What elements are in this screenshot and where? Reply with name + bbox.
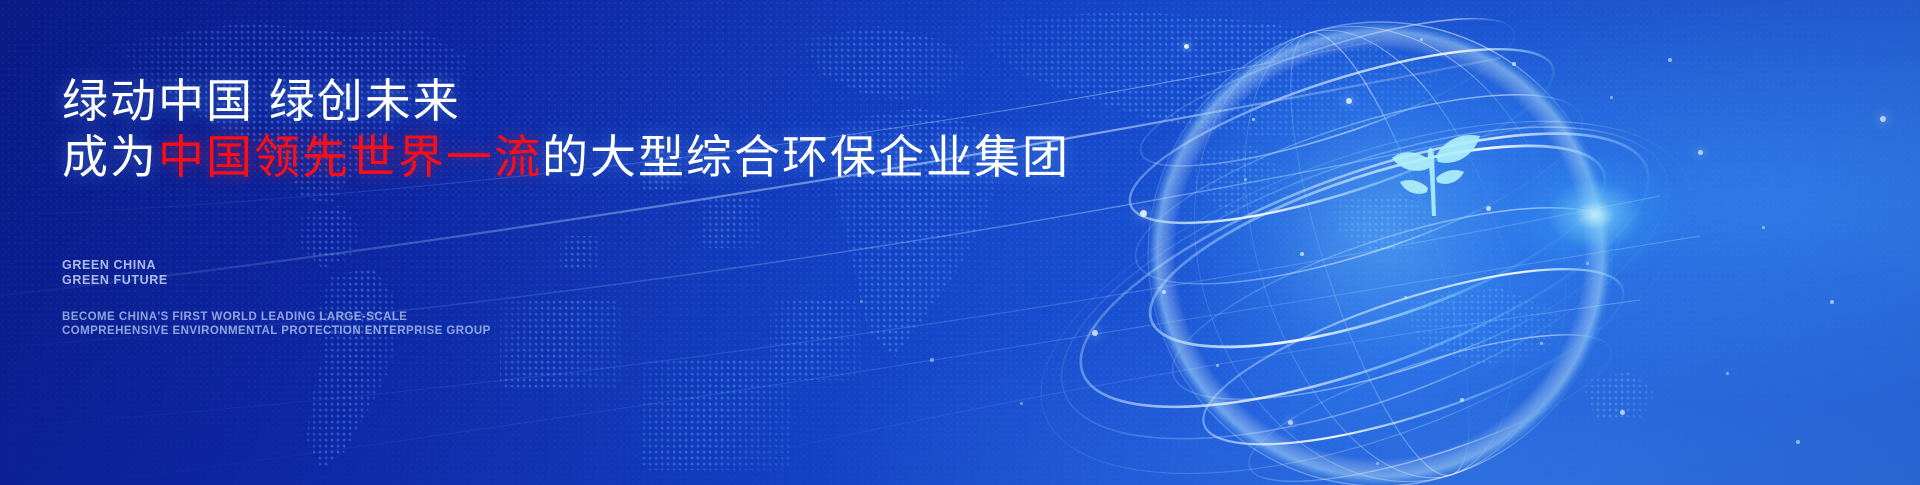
headline-line-2-suffix: 的大型综合环保企业集团 xyxy=(542,131,1070,183)
sprout-leaf-icon xyxy=(1374,112,1492,220)
subline-english-line-2: COMPREHENSIVE ENVIRONMENTAL PROTECTION E… xyxy=(62,324,491,338)
tagline-english-line-2: GREEN FUTURE xyxy=(62,273,168,288)
tagline-english-line-1: GREEN CHINA xyxy=(62,258,168,273)
headline-line-2-highlight: 中国领先世界一流 xyxy=(158,131,542,183)
globe-graphic xyxy=(1060,0,1700,485)
globe-glow xyxy=(1140,10,1620,480)
hero-banner: 绿动中国 绿创未来 成为中国领先世界一流的大型综合环保企业集团 GREEN CH… xyxy=(0,0,1920,485)
headline-line-1: 绿动中国 绿创未来 xyxy=(62,78,461,124)
banner-copy: 绿动中国 绿创未来 成为中国领先世界一流的大型综合环保企业集团 GREEN CH… xyxy=(62,0,1042,485)
globe-core-flare xyxy=(1505,150,1685,280)
headline-line-2: 成为中国领先世界一流的大型综合环保企业集团 xyxy=(62,134,1070,180)
subline-english: BECOME CHINA'S FIRST WORLD LEADING LARGE… xyxy=(62,310,491,338)
tagline-english: GREEN CHINA GREEN FUTURE xyxy=(62,258,168,288)
headline-line-2-prefix: 成为 xyxy=(62,131,158,183)
subline-english-line-1: BECOME CHINA'S FIRST WORLD LEADING LARGE… xyxy=(62,310,491,324)
